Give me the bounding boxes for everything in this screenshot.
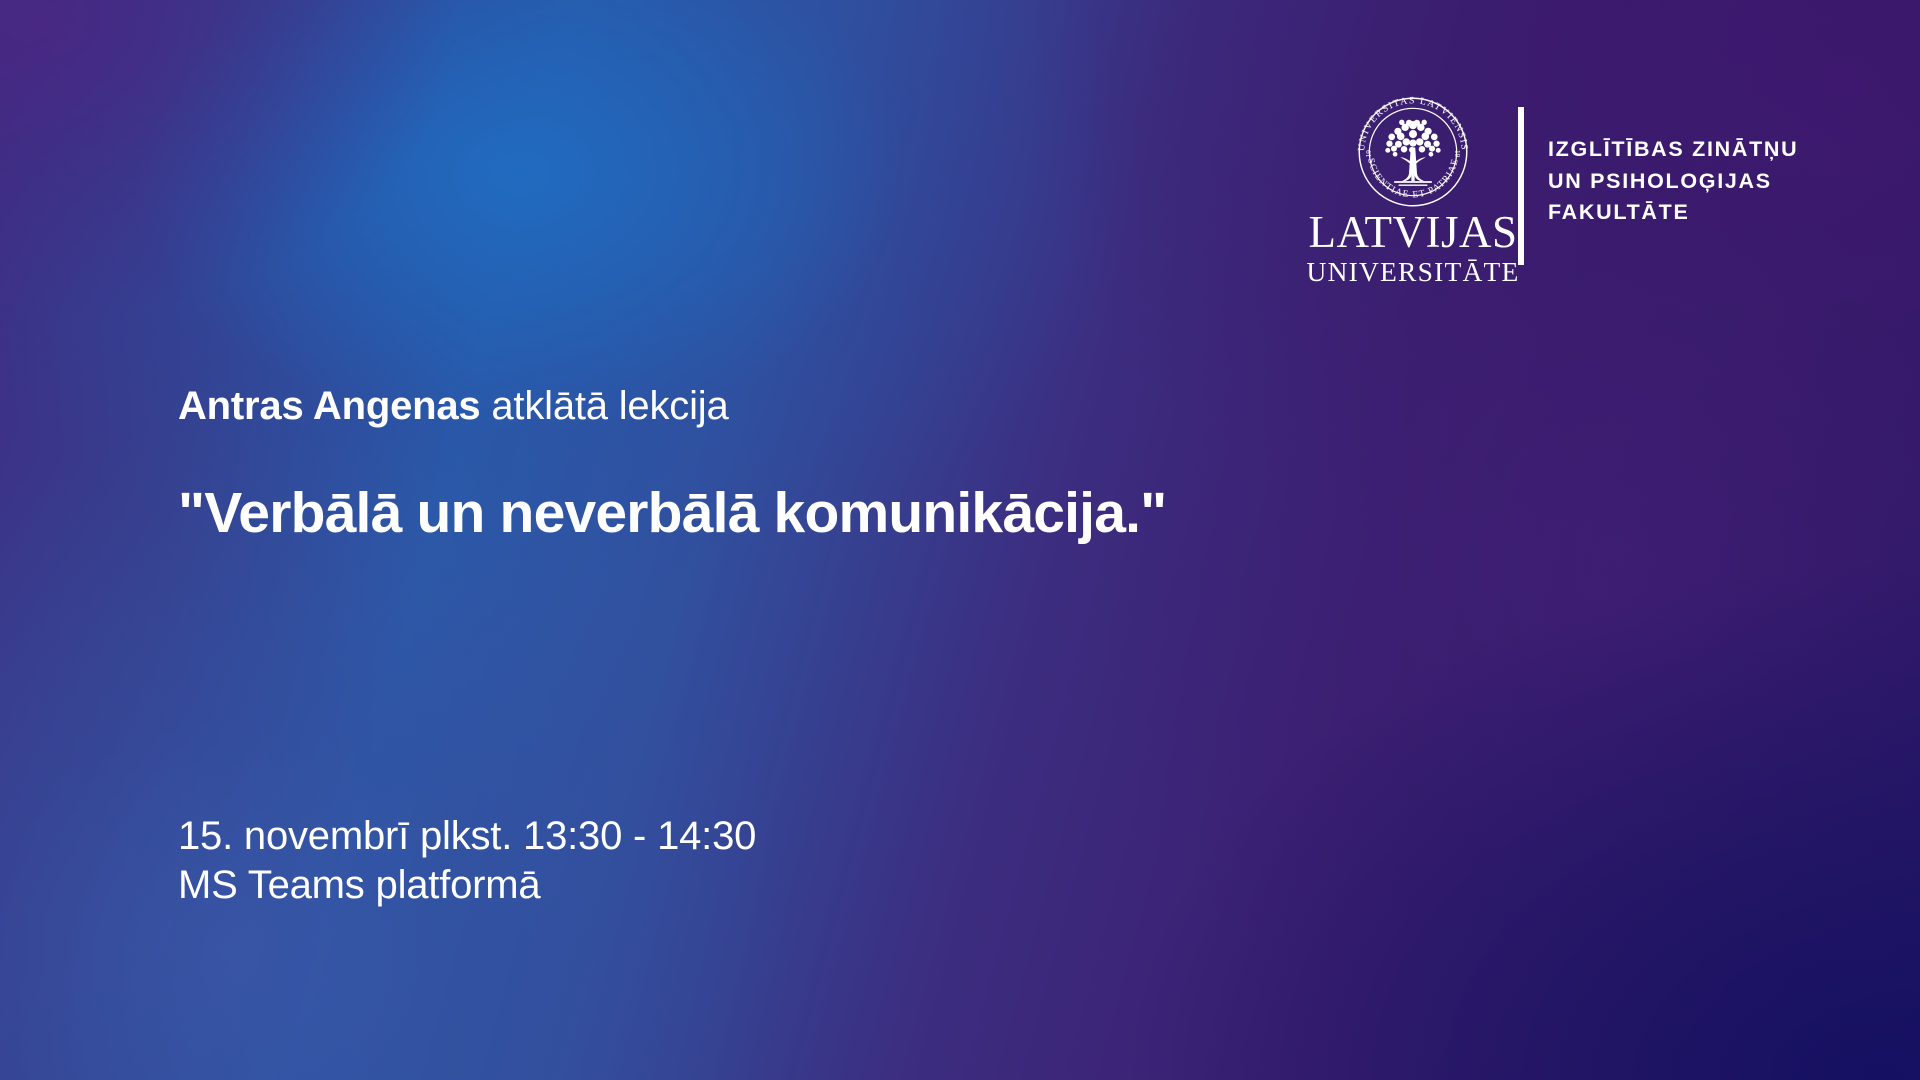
svg-text:19: 19	[1365, 150, 1373, 158]
vertical-divider-icon	[1518, 107, 1524, 265]
event-datetime: 15. novembrī plkst. 13:30 - 14:30	[178, 812, 756, 861]
lecture-kicker-suffix: atklātā lekcija	[480, 384, 728, 428]
lecturer-name: Antras Angenas	[178, 384, 480, 428]
lecture-headline-block: Antras Angenas atklātā lekcija "Verbālā …	[178, 382, 1478, 546]
faculty-name-line-1: IZGLĪTĪBAS ZINĀTŅU	[1548, 134, 1798, 166]
university-logo-lockup: UNIVERSITAS LATVIENSIS SCIENTIAE ET PATR…	[1318, 96, 1798, 286]
faculty-name-line-2: UN PSIHOLOĢIJAS	[1548, 166, 1798, 198]
lecture-title: "Verbālā un neverbālā komunikācija."	[178, 480, 1478, 546]
event-details: 15. novembrī plkst. 13:30 - 14:30 MS Tea…	[178, 812, 756, 910]
wordmark-line-universitate: UNIVERSITĀTE	[1307, 258, 1520, 286]
latvijas-universitate-seal-icon: UNIVERSITAS LATVIENSIS SCIENTIAE ET PATR…	[1357, 96, 1469, 208]
latvijas-universitate-mark: UNIVERSITAS LATVIENSIS SCIENTIAE ET PATR…	[1318, 96, 1508, 286]
event-platform: MS Teams platformā	[178, 861, 756, 910]
lecture-kicker: Antras Angenas atklātā lekcija	[178, 382, 1478, 430]
faculty-name: IZGLĪTĪBAS ZINĀTŅU UN PSIHOLOĢIJAS FAKUL…	[1548, 134, 1798, 229]
faculty-name-line-3: FAKULTĀTE	[1548, 197, 1798, 229]
svg-text:19: 19	[1453, 150, 1461, 158]
lecture-announcement-poster: UNIVERSITAS LATVIENSIS SCIENTIAE ET PATR…	[0, 0, 1920, 1080]
wordmark-line-latvijas: LATVIJAS	[1307, 210, 1520, 255]
latvijas-universitate-wordmark: LATVIJAS UNIVERSITĀTE	[1307, 210, 1520, 286]
